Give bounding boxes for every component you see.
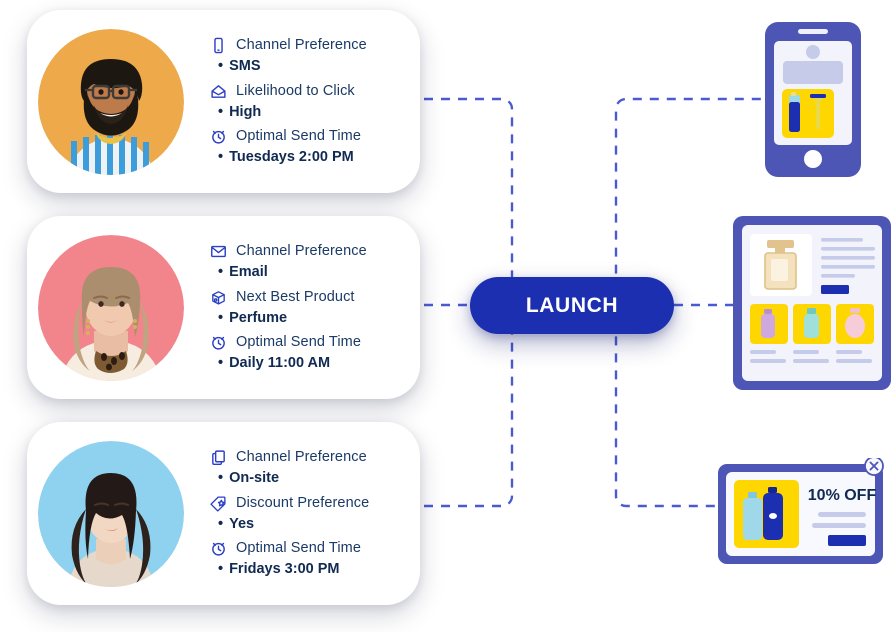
attribute-row: Channel Preference •On-site [210, 449, 410, 487]
attribute-label: Optimal Send Time [236, 334, 361, 351]
open-envelope-icon [210, 83, 227, 100]
product-page-mockup[interactable] [733, 216, 891, 390]
cta-button [821, 285, 849, 294]
attribute-label: Likelihood to Click [236, 83, 355, 100]
attribute-label: Next Best Product [236, 289, 355, 306]
attribute-row: Channel Preference •Email [210, 243, 410, 281]
envelope-icon [210, 243, 227, 260]
attribute-label: Optimal Send Time [236, 128, 361, 145]
attribute-value: •Yes [218, 516, 410, 533]
profile-card[interactable]: Channel Preference •On-site Discount Pre… [27, 422, 420, 605]
attribute-row: Discount Preference •Yes [210, 495, 410, 533]
profile-card[interactable]: Channel Preference •SMS Likelihood to Cl… [27, 10, 420, 193]
attribute-label: Channel Preference [236, 37, 367, 54]
avatar-person-3 [38, 441, 184, 587]
connector-launch-to-popup [616, 305, 724, 506]
alarm-clock-icon [210, 128, 227, 145]
attribute-value: •SMS [218, 58, 410, 75]
attribute-value: •Daily 11:00 AM [218, 355, 410, 372]
attribute-value: •High [218, 104, 410, 121]
avatar-placeholder [806, 45, 820, 59]
phone-speaker [798, 29, 828, 34]
launch-button[interactable]: LAUNCH [470, 277, 674, 334]
perfume-bottle-glyph [765, 240, 796, 289]
profile-card[interactable]: Channel Preference •Email Next Best Prod… [27, 216, 420, 399]
phone-home-button [804, 150, 822, 168]
diagram-canvas: Channel Preference •SMS Likelihood to Cl… [0, 0, 891, 632]
mobile-icon [210, 37, 227, 54]
avatar-person-2 [38, 235, 184, 381]
attribute-value: •Perfume [218, 310, 410, 327]
attribute-row: Optimal Send Time •Daily 11:00 AM [210, 334, 410, 372]
avatar-person-1 [38, 29, 184, 175]
attribute-label: Optimal Send Time [236, 540, 361, 557]
launch-button-label: LAUNCH [526, 294, 618, 318]
popup-cta-button [828, 535, 866, 546]
attribute-row: Channel Preference •SMS [210, 37, 410, 75]
onsite-popup-mockup[interactable]: 10% OFF [718, 458, 891, 564]
attribute-row: Optimal Send Time •Tuesdays 2:00 PM [210, 128, 410, 166]
package-box-icon [210, 289, 227, 306]
window-copy-icon [210, 449, 227, 466]
popup-headline: 10% OFF [808, 487, 877, 504]
alarm-clock-icon [210, 540, 227, 557]
discount-tag-star-icon [210, 495, 227, 512]
product-tiles [750, 304, 874, 344]
attribute-row: Optimal Send Time •Fridays 3:00 PM [210, 540, 410, 578]
attribute-list: Channel Preference •On-site Discount Pre… [210, 449, 420, 578]
alarm-clock-icon [210, 334, 227, 351]
attribute-value: •Email [218, 264, 410, 281]
message-bubble [783, 61, 843, 84]
attribute-value: •Tuesdays 2:00 PM [218, 149, 410, 166]
attribute-row: Next Best Product •Perfume [210, 289, 410, 327]
attribute-label: Channel Preference [236, 243, 367, 260]
close-icon [865, 458, 883, 475]
attribute-list: Channel Preference •SMS Likelihood to Cl… [210, 37, 420, 166]
attribute-label: Discount Preference [236, 495, 369, 512]
mobile-push-mockup[interactable] [765, 22, 861, 177]
attribute-row: Likelihood to Click •High [210, 83, 410, 121]
connector-card1-to-launch [424, 99, 522, 305]
attribute-label: Channel Preference [236, 449, 367, 466]
attribute-list: Channel Preference •Email Next Best Prod… [210, 243, 420, 372]
connector-card3-to-launch [424, 305, 522, 506]
attribute-value: •Fridays 3:00 PM [218, 561, 410, 578]
attribute-value: •On-site [218, 470, 410, 487]
